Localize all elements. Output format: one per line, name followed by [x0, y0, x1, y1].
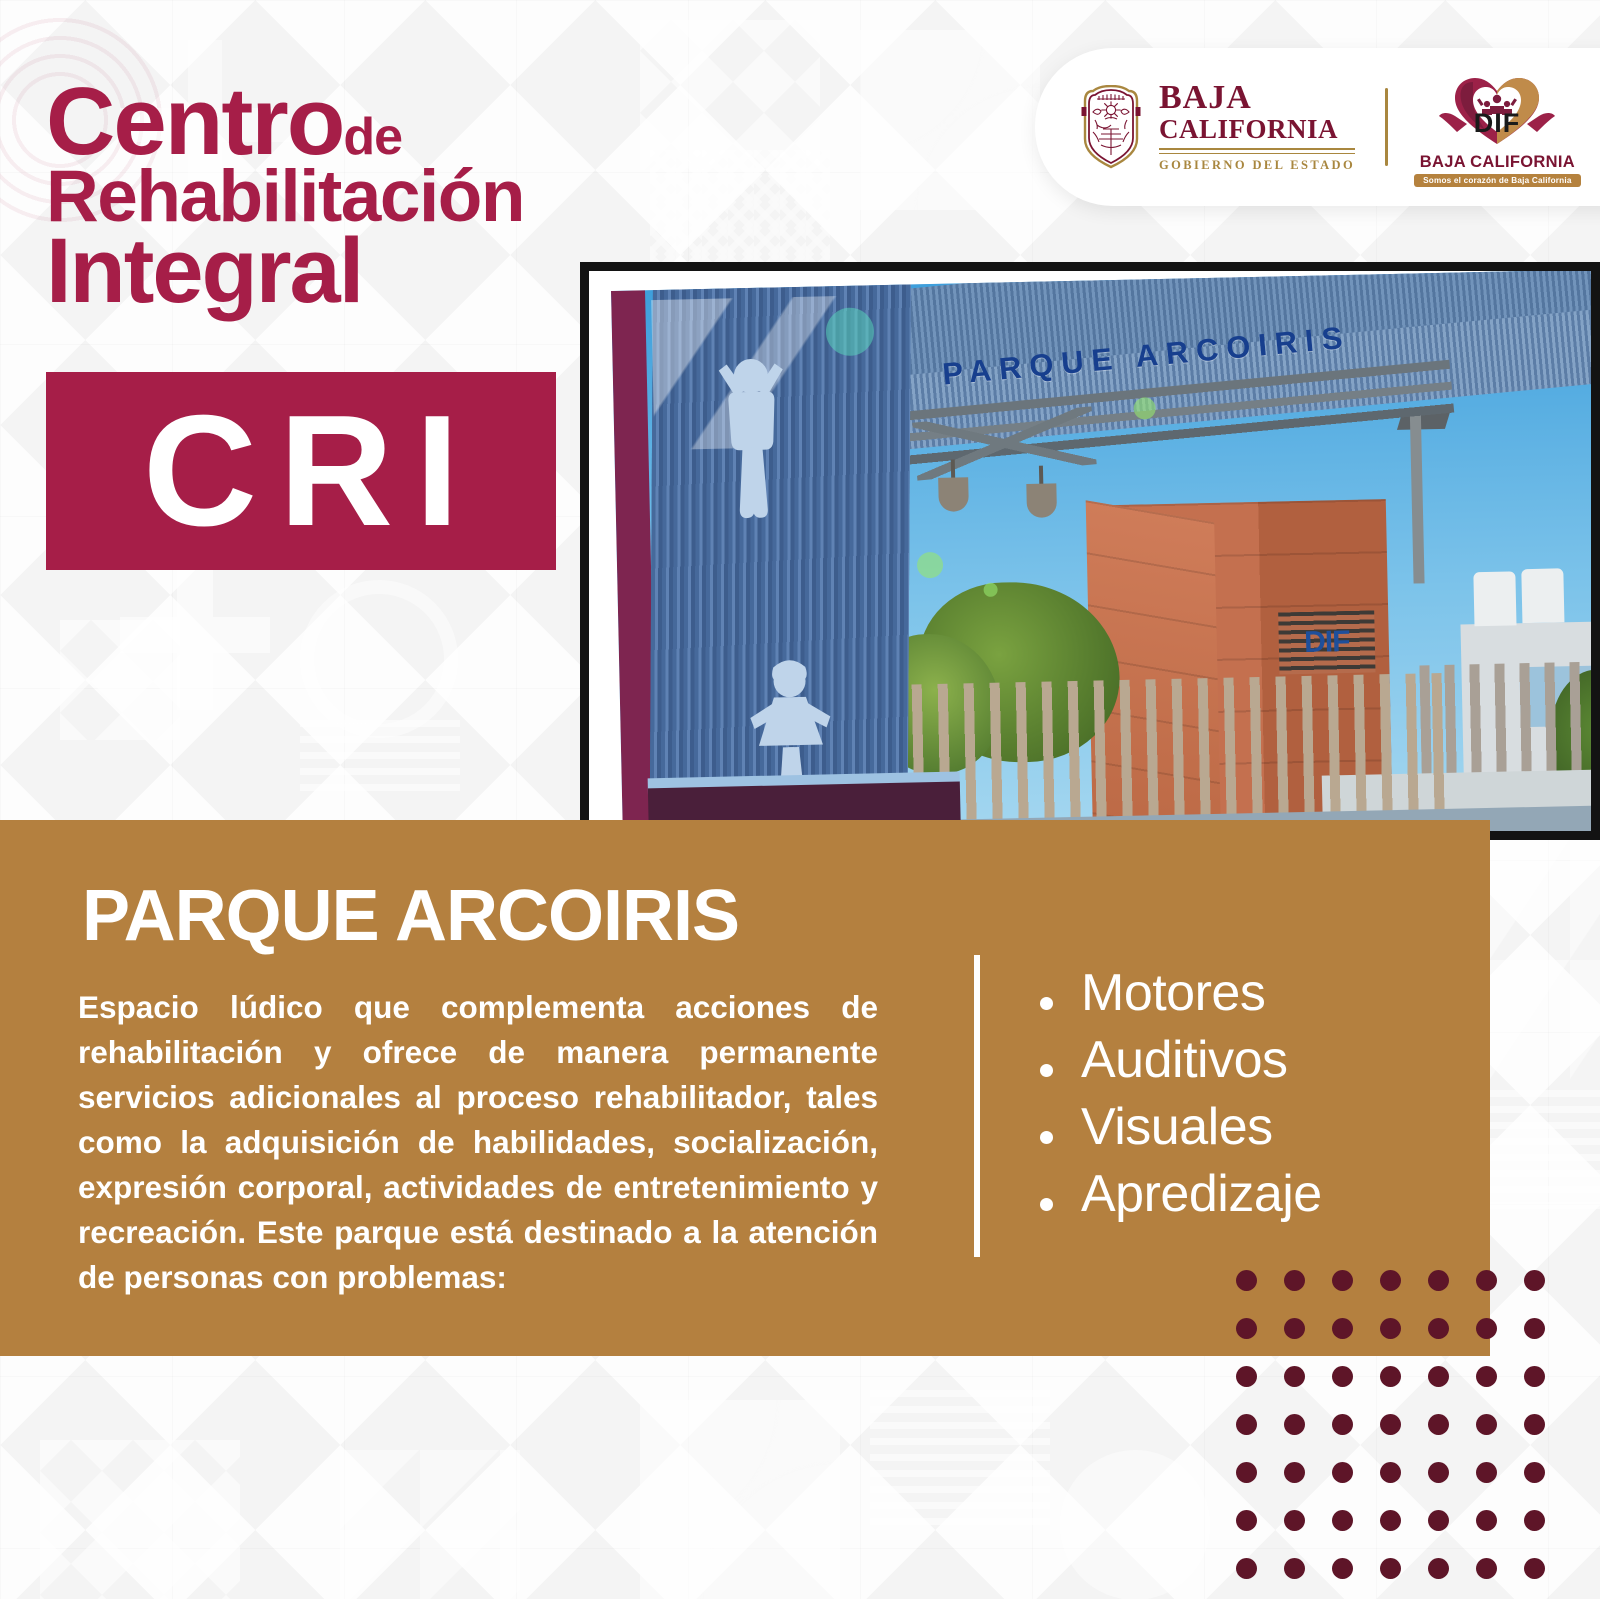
- poster-canvas: Centrode Rehabilitación Integral CRI: [0, 0, 1600, 1599]
- bullet-dot-icon: [1040, 1198, 1053, 1211]
- section-body-text: Espacio lúdico que complementa acciones …: [78, 985, 878, 1300]
- headline-line-3: Integral: [46, 228, 606, 315]
- photo-dif-sign: DIF: [1278, 610, 1375, 674]
- pattern-diamond-motif: [640, 20, 820, 170]
- vertical-divider-icon: [1385, 88, 1388, 166]
- bullet-label: Motores: [1081, 960, 1265, 1027]
- pattern-diamond-motif-2: [60, 620, 180, 740]
- bullet-dot-icon: [1040, 1064, 1053, 1077]
- dif-name: BAJA CALIFORNIA: [1420, 153, 1575, 172]
- baja-california-wordmark: BAJA CALIFORNIA GOBIERNO DEL ESTADO: [1159, 81, 1355, 174]
- poster-headline: Centrode Rehabilitación Integral: [46, 78, 606, 315]
- section-title: PARQUE ARCOIRIS: [82, 880, 739, 952]
- bullet-label: Visuales: [1081, 1094, 1273, 1161]
- pattern-petal-motif: [860, 30, 1040, 210]
- photo-hanging-lamp-1: [938, 477, 969, 512]
- bullet-dot-icon: [1040, 997, 1053, 1010]
- bc-name-line-2: CALIFORNIA: [1159, 115, 1355, 145]
- dif-logo: DIF BAJA CALIFORNIA Somos el corazón de …: [1414, 68, 1581, 187]
- pattern-lines-motif-2: [1490, 1090, 1600, 1210]
- list-item: Apredizaje: [1040, 1161, 1322, 1228]
- baja-california-logo: BAJA CALIFORNIA GOBIERNO DEL ESTADO: [1079, 81, 1355, 174]
- photo-hanging-lamp-2: [1026, 483, 1057, 518]
- dif-heart-hands-family-icon: DIF: [1433, 68, 1561, 152]
- parque-arcoiris-photo-frame: DIF PARQUE ARCOIRIS: [580, 262, 1600, 840]
- child-jumping-silhouette-icon: [704, 339, 800, 531]
- pattern-triangle-motif-2: [340, 1450, 520, 1599]
- bc-name-line-1: BAJA: [1159, 81, 1355, 115]
- logo-card: BAJA CALIFORNIA GOBIERNO DEL ESTADO: [1035, 48, 1600, 206]
- bullet-label: Auditivos: [1081, 1027, 1288, 1094]
- cri-badge: CRI: [46, 372, 556, 570]
- pattern-petal-motif-2: [640, 1400, 840, 1599]
- parque-arcoiris-photo: DIF PARQUE ARCOIRIS: [611, 269, 1600, 840]
- photo-water-tank-2: [1521, 568, 1564, 623]
- list-item: Visuales: [1040, 1094, 1322, 1161]
- list-item: Motores: [1040, 960, 1322, 1027]
- bc-subtitle: GOBIERNO DEL ESTADO: [1159, 158, 1355, 173]
- cri-badge-label: CRI: [121, 392, 481, 550]
- photo-water-tank-1: [1473, 571, 1516, 626]
- photo-dif-sign-text: DIF: [1304, 625, 1350, 660]
- bullet-dot-icon: [1040, 1131, 1053, 1144]
- pattern-lines-motif: [300, 720, 460, 800]
- pattern-diamond-motif-3: [40, 1440, 240, 1599]
- section-vertical-rule: [974, 955, 980, 1257]
- pattern-circle-motif: [1060, 1450, 1210, 1599]
- list-item: Auditivos: [1040, 1027, 1322, 1094]
- bc-rule-bottom: [1159, 153, 1355, 154]
- pattern-triangle-motif: [1490, 840, 1600, 1080]
- decorative-dot-grid: [1236, 1270, 1556, 1570]
- pattern-zigzag-motif: [650, 150, 830, 270]
- pattern-lines-motif-3: [870, 1390, 1050, 1530]
- svg-text:DIF: DIF: [1474, 108, 1521, 138]
- bc-rule-top: [1159, 148, 1355, 150]
- baja-california-coat-of-arms-icon: [1079, 85, 1143, 169]
- bullet-label: Apredizaje: [1081, 1161, 1322, 1228]
- problem-types-list: Motores Auditivos Visuales Apredizaje: [1040, 960, 1322, 1228]
- pattern-ring-motif: [300, 580, 458, 738]
- dif-tagline: Somos el corazón de Baja California: [1414, 174, 1581, 187]
- headline-line-1: Centrode: [46, 78, 606, 166]
